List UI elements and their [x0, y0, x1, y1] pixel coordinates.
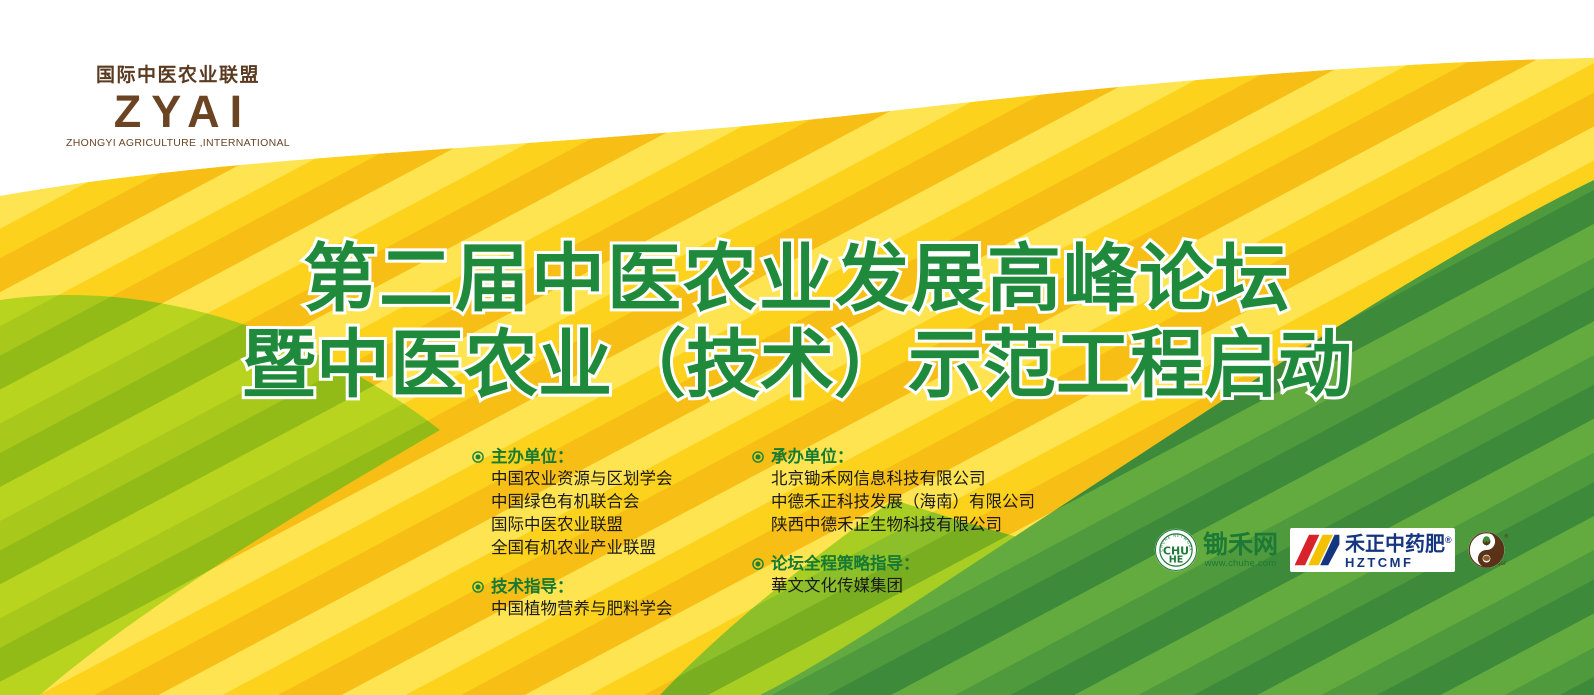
- credit-group-strategy-guidance: 论坛全程策略指导： 華文文化传媒集团: [752, 553, 1052, 598]
- credit-group-organizers: 主办单位： 中国农业资源与区划学会 中国绿色有机联合会 国际中医农业联盟 全国有…: [472, 446, 734, 560]
- credit-item: 華文文化传媒集团: [771, 575, 1052, 598]
- sponsor-logo-row: CHUHE NETWORK CHU HE 锄禾网 www.chuhe.com 禾…: [1154, 528, 1509, 572]
- chuhe-url: www.chuhe.com: [1205, 558, 1277, 569]
- credit-group-technical-guidance: 技术指导： 中国植物营养与肥料学会: [472, 576, 734, 621]
- credit-heading: 主办单位：: [472, 446, 734, 468]
- hz-trademark: ®: [1445, 535, 1452, 545]
- hz-name-en: HZTCMF: [1345, 556, 1452, 570]
- credit-heading: 承办单位：: [752, 446, 1052, 468]
- credit-heading-label: 技术指导：: [491, 576, 574, 598]
- chuhe-text: 锄禾网 www.chuhe.com: [1203, 532, 1278, 569]
- hz-text: 禾正中药肥® HZTCMF: [1345, 530, 1452, 570]
- ring-dot-bullet-icon: [472, 451, 484, 463]
- wordmark-abbreviation: ZYAI: [104, 88, 252, 135]
- ring-dot-bullet-icon: [752, 558, 764, 570]
- credit-item: 中国植物营养与肥料学会: [491, 598, 734, 621]
- sponsor-logo-ggf: ® GGF: [1467, 529, 1509, 571]
- credit-heading-label: 论坛全程策略指导：: [771, 553, 920, 575]
- sponsor-logo-chuhe: CHUHE NETWORK CHU HE 锄禾网 www.chuhe.com: [1154, 528, 1278, 572]
- credits-block: 主办单位： 中国农业资源与区划学会 中国绿色有机联合会 国际中医农业联盟 全国有…: [472, 446, 1052, 637]
- hz-name-cn-label: 禾正中药肥: [1345, 534, 1445, 556]
- credit-heading-label: 承办单位：: [771, 446, 854, 468]
- credit-item: 陕西中德禾正生物科技有限公司: [771, 514, 1052, 537]
- ggf-trademark: ®: [1503, 533, 1508, 540]
- ring-dot-bullet-icon: [752, 451, 764, 463]
- credit-heading-label: 主办单位：: [491, 446, 574, 468]
- credit-item: 中国绿色有机联合会: [491, 491, 734, 514]
- hz-name-cn: 禾正中药肥®: [1345, 530, 1452, 556]
- svg-text:GGF: GGF: [1497, 561, 1507, 567]
- sponsor-logo-hztcmf: 禾正中药肥® HZTCMF: [1290, 528, 1455, 572]
- credits-column-left: 主办单位： 中国农业资源与区划学会 中国绿色有机联合会 国际中医农业联盟 全国有…: [472, 446, 734, 637]
- credit-item: 国际中医农业联盟: [491, 514, 734, 537]
- chuhe-seal-icon: CHUHE NETWORK CHU HE: [1154, 528, 1198, 572]
- credit-item: 中国农业资源与区划学会: [491, 468, 734, 491]
- credit-heading: 论坛全程策略指导：: [752, 553, 1052, 575]
- event-banner: 国际中医农业联盟 ZHONGYI AGRICULTURE ,INTERNATIO…: [0, 0, 1594, 695]
- credit-group-co-organizers: 承办单位： 北京锄禾网信息科技有限公司 中德禾正科技发展（海南）有限公司 陕西中…: [752, 446, 1052, 537]
- wordmark-chinese: 国际中医农业联盟: [96, 66, 260, 87]
- credit-item: 全国有机农业产业联盟: [491, 537, 734, 560]
- credit-item: 北京锄禾网信息科技有限公司: [771, 468, 1052, 491]
- tree-root-circle-icon: ® GGF: [1467, 529, 1509, 571]
- ring-dot-bullet-icon: [472, 581, 484, 593]
- logo-wordmark: 国际中医农业联盟 ZYAI ZHONGYI AGRICULTURE ,INTER…: [66, 66, 290, 149]
- wordmark-english: ZHONGYI AGRICULTURE ,INTERNATIONAL: [66, 137, 290, 149]
- credit-item: 中德禾正科技发展（海南）有限公司: [771, 491, 1052, 514]
- svg-text:HE: HE: [1169, 554, 1183, 565]
- credits-column-right: 承办单位： 北京锄禾网信息科技有限公司 中德禾正科技发展（海南）有限公司 陕西中…: [752, 446, 1052, 637]
- credit-heading: 技术指导：: [472, 576, 734, 598]
- chuhe-name: 锄禾网: [1203, 532, 1278, 558]
- hz-stripe-mark-icon: [1293, 533, 1341, 567]
- organization-logo: 国际中医农业联盟 ZHONGYI AGRICULTURE ,INTERNATIO…: [52, 66, 290, 149]
